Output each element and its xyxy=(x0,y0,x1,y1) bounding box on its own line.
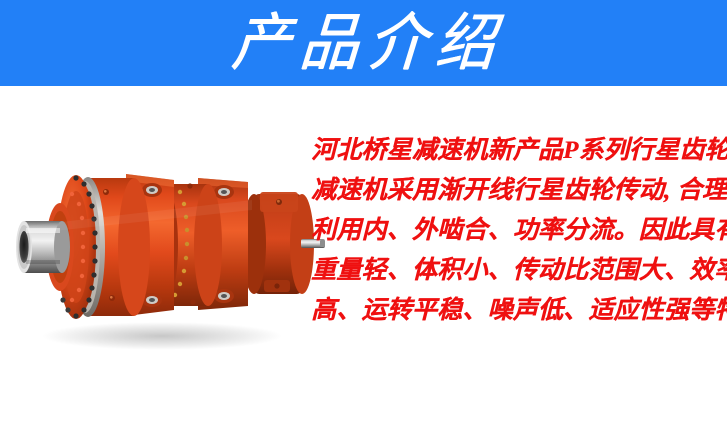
product-introduction-page: 产品介绍 xyxy=(0,0,727,427)
product-description: 河北桥星减速机新产品P系列行星齿轮 减速机采用渐开线行星齿轮传动, 合理 利用内… xyxy=(311,131,725,331)
description-line-5: 高、运转平稳、噪声低、适应性强等特点。 xyxy=(311,291,725,331)
product-image xyxy=(2,148,332,358)
description-line-2: 减速机采用渐开线行星齿轮传动, 合理 xyxy=(311,171,725,211)
planetary-gear-reducer-illustration xyxy=(2,148,332,358)
description-line-3: 利用内、外啮合、功率分流。因此具有 xyxy=(311,211,725,251)
drop-shadow xyxy=(42,322,282,350)
description-line-1: 河北桥星减速机新产品P系列行星齿轮 xyxy=(311,131,725,171)
content-area: 河北桥星减速机新产品P系列行星齿轮 减速机采用渐开线行星齿轮传动, 合理 利用内… xyxy=(0,86,727,427)
page-header-banner: 产品介绍 xyxy=(0,0,727,86)
page-title: 产品介绍 xyxy=(221,12,506,75)
description-line-4: 重量轻、体积小、传动比范围大、效率 xyxy=(311,251,725,291)
hollow-output-shaft xyxy=(16,203,74,291)
